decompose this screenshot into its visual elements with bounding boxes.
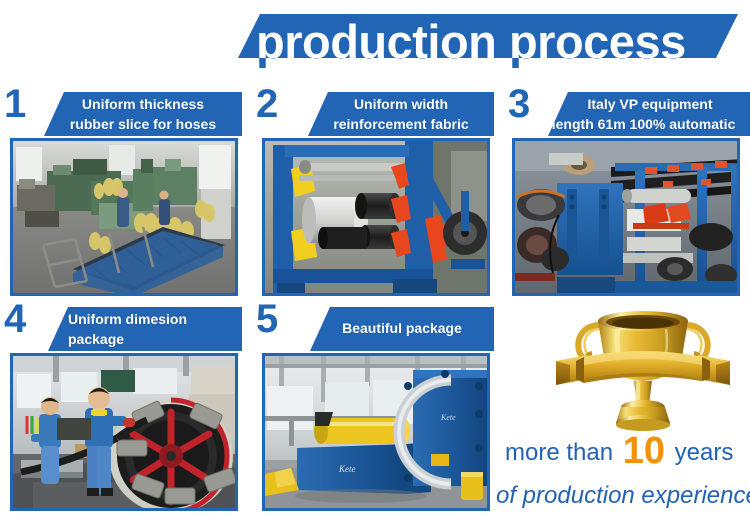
trophy-icon: [548, 305, 738, 435]
svg-text:Kete: Kete: [338, 464, 356, 474]
fabric-calender-machine-photo: [265, 141, 487, 293]
panel-1[interactable]: 1 Uniform thickness rubber slice for hos…: [0, 88, 246, 303]
panel-label-line-1b: rubber slice for hoses: [44, 114, 242, 134]
panel-label-text-5: Beautiful package: [310, 318, 494, 338]
panel-photo-2[interactable]: [262, 138, 490, 296]
packaging-machine-photo: Kete Kete: [265, 356, 487, 508]
panel-label-line-1a: Uniform thickness: [44, 94, 242, 114]
panel-label-line-5a: Beautiful package: [342, 320, 462, 336]
panel-label-text-3: Italy VP equipment Max.length 61m 100% a…: [548, 94, 750, 134]
experience-suffix: years: [668, 439, 733, 466]
panel-label-text-4: Uniform dimesion package: [48, 309, 242, 349]
panel-label-5: Beautiful package: [310, 307, 494, 351]
panel-photo-5[interactable]: Kete Kete: [262, 353, 490, 511]
panel-2[interactable]: 2 Uniform width reinforcement fabric: [252, 88, 498, 303]
panel-photo-3[interactable]: [512, 138, 740, 296]
production-process-infographic: production process production process 1 …: [0, 0, 750, 525]
page-title: production process: [256, 10, 750, 80]
panel-photo-4[interactable]: [10, 353, 238, 511]
panel-number-2: 2: [256, 84, 278, 124]
panel-number-1: 1: [4, 84, 26, 124]
experience-prefix: more than: [505, 439, 620, 466]
panel-label-4: Uniform dimesion package: [48, 307, 242, 351]
panel-4[interactable]: 4 Uniform dimesion package: [0, 303, 246, 518]
experience-subline: of production experience: [496, 482, 750, 510]
svg-text:Kete: Kete: [440, 413, 456, 422]
panel-label-line-4a: Uniform dimesion: [68, 309, 242, 329]
panel-label-3: Italy VP equipment Max.length 61m 100% a…: [548, 92, 750, 136]
panel-label-text-2: Uniform width reinforcement fabric: [308, 94, 494, 134]
panel-photo-1[interactable]: [10, 138, 238, 296]
hose-coiling-workers-photo: [13, 356, 235, 508]
panel-label-line-4b: package: [68, 329, 242, 349]
panel-label-line-2b: reinforcement fabric: [308, 114, 494, 134]
italy-vp-equipment-photo: [515, 141, 737, 293]
experience-years-number: 10: [620, 430, 668, 472]
panel-label-text-1: Uniform thickness rubber slice for hoses: [44, 94, 242, 134]
panel-number-5: 5: [256, 299, 278, 339]
panel-label-line-3a: Italy VP equipment: [548, 94, 750, 114]
panel-number-4: 4: [4, 299, 26, 339]
panel-label-1: Uniform thickness rubber slice for hoses: [44, 92, 242, 136]
panel-number-3: 3: [508, 84, 530, 124]
panel-label-line-3b: Max.length 61m 100% automatic: [504, 114, 750, 134]
panel-3[interactable]: 3 Italy VP equipment Max.length 61m 100%…: [504, 88, 750, 303]
rubber-slicing-line-photo: [13, 141, 235, 293]
header: production process production process: [0, 0, 750, 86]
panel-5[interactable]: 5 Beautiful package: [252, 303, 498, 518]
panel-label-2: Uniform width reinforcement fabric: [308, 92, 494, 136]
experience-headline: more than 10 years: [505, 430, 750, 473]
trophy-illustration: [548, 305, 738, 435]
panel-label-line-2a: Uniform width: [308, 94, 494, 114]
